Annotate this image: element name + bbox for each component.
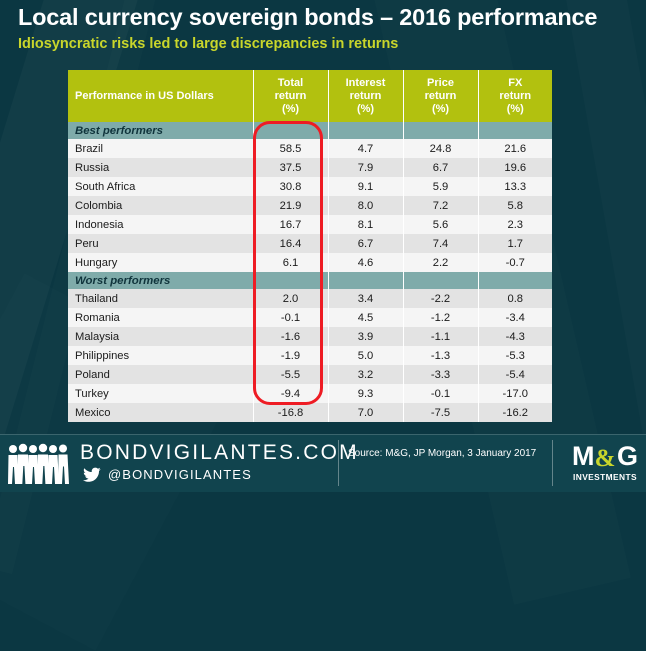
cell-country: Malaysia bbox=[68, 327, 253, 346]
cell-price-return: 2.2 bbox=[403, 253, 478, 272]
section-band-cell bbox=[328, 272, 403, 289]
mg-logo-letters: M & G bbox=[572, 443, 638, 470]
cell-interest-return: 9.1 bbox=[328, 177, 403, 196]
cell-fx-return: -5.3 bbox=[478, 346, 552, 365]
cell-price-return: -3.3 bbox=[403, 365, 478, 384]
table-row: Hungary6.14.62.2-0.7 bbox=[68, 253, 552, 272]
section-band-cell bbox=[253, 272, 328, 289]
cell-country: Indonesia bbox=[68, 215, 253, 234]
header-line-2: return bbox=[404, 90, 478, 103]
section-band-cell bbox=[328, 122, 403, 139]
cell-price-return: -0.1 bbox=[403, 384, 478, 403]
section-band-row: Worst performers bbox=[68, 272, 552, 289]
mg-logo-ampersand: & bbox=[595, 446, 616, 471]
cell-fx-return: 5.8 bbox=[478, 196, 552, 215]
cell-country: Poland bbox=[68, 365, 253, 384]
section-band-cell bbox=[478, 272, 552, 289]
performance-table-wrapper: Performance in US Dollars Total return (… bbox=[68, 70, 552, 422]
mg-investments-logo: M & G INVESTMENTS bbox=[572, 443, 638, 487]
cell-fx-return: 1.7 bbox=[478, 234, 552, 253]
table-row: Thailand2.03.4-2.20.8 bbox=[68, 289, 552, 308]
section-band-cell bbox=[403, 122, 478, 139]
table-row: Philippines-1.95.0-1.3-5.3 bbox=[68, 346, 552, 365]
mg-logo-m: M bbox=[572, 443, 595, 470]
cell-total-return: 58.5 bbox=[253, 139, 328, 158]
slide-title: Local currency sovereign bonds – 2016 pe… bbox=[18, 4, 597, 31]
cell-fx-return: -4.3 bbox=[478, 327, 552, 346]
cell-total-return: 37.5 bbox=[253, 158, 328, 177]
cell-interest-return: 3.2 bbox=[328, 365, 403, 384]
cell-price-return: -1.2 bbox=[403, 308, 478, 327]
table-row: Indonesia16.78.15.62.3 bbox=[68, 215, 552, 234]
cell-country: Philippines bbox=[68, 346, 253, 365]
cell-price-return: 6.7 bbox=[403, 158, 478, 177]
bondvigilantes-site-label[interactable]: BONDVIGILANTES.COM bbox=[80, 441, 359, 465]
cell-price-return: -1.3 bbox=[403, 346, 478, 365]
cell-interest-return: 3.4 bbox=[328, 289, 403, 308]
people-group-icon bbox=[7, 442, 73, 484]
section-band-cell bbox=[403, 272, 478, 289]
header-line-2: return bbox=[479, 90, 553, 103]
cell-interest-return: 4.7 bbox=[328, 139, 403, 158]
slide-canvas: Local currency sovereign bonds – 2016 pe… bbox=[0, 0, 646, 492]
table-row: Turkey-9.49.3-0.1-17.0 bbox=[68, 384, 552, 403]
cell-country: Hungary bbox=[68, 253, 253, 272]
cell-total-return: -0.1 bbox=[253, 308, 328, 327]
cell-total-return: -1.9 bbox=[253, 346, 328, 365]
cell-interest-return: 3.9 bbox=[328, 327, 403, 346]
cell-country: Colombia bbox=[68, 196, 253, 215]
column-header-performance: Performance in US Dollars bbox=[68, 70, 253, 122]
table-header-row: Performance in US Dollars Total return (… bbox=[68, 70, 552, 122]
source-note: Source: M&G, JP Morgan, 3 January 2017 bbox=[348, 448, 536, 459]
performance-table: Performance in US Dollars Total return (… bbox=[68, 70, 552, 422]
column-header-total-return: Total return (%) bbox=[253, 70, 328, 122]
cell-total-return: 30.8 bbox=[253, 177, 328, 196]
header-line-3: (%) bbox=[404, 103, 478, 116]
footer-divider-right bbox=[552, 440, 553, 486]
twitter-icon[interactable] bbox=[83, 467, 101, 482]
footer-bar: BONDVIGILANTES.COM @BONDVIGILANTES Sourc… bbox=[0, 434, 646, 492]
cell-interest-return: 4.5 bbox=[328, 308, 403, 327]
section-band-cell bbox=[253, 122, 328, 139]
table-row: Mexico-16.87.0-7.5-16.2 bbox=[68, 403, 552, 422]
cell-total-return: -9.4 bbox=[253, 384, 328, 403]
header-line-2: return bbox=[254, 90, 328, 103]
cell-country: Peru bbox=[68, 234, 253, 253]
mg-logo-g: G bbox=[617, 443, 638, 470]
table-row: Romania-0.14.5-1.2-3.4 bbox=[68, 308, 552, 327]
cell-fx-return: -5.4 bbox=[478, 365, 552, 384]
header-line-1: Total bbox=[254, 77, 328, 90]
cell-interest-return: 7.9 bbox=[328, 158, 403, 177]
cell-fx-return: 21.6 bbox=[478, 139, 552, 158]
cell-interest-return: 8.0 bbox=[328, 196, 403, 215]
cell-country: Russia bbox=[68, 158, 253, 177]
cell-fx-return: -0.7 bbox=[478, 253, 552, 272]
table-row: Poland-5.53.2-3.3-5.4 bbox=[68, 365, 552, 384]
cell-fx-return: -17.0 bbox=[478, 384, 552, 403]
header-line-3: (%) bbox=[479, 103, 553, 116]
cell-interest-return: 6.7 bbox=[328, 234, 403, 253]
table-row: Peru16.46.77.41.7 bbox=[68, 234, 552, 253]
table-row: Russia37.57.96.719.6 bbox=[68, 158, 552, 177]
header-line-1: Price bbox=[404, 77, 478, 90]
cell-total-return: 16.7 bbox=[253, 215, 328, 234]
mg-logo-tagline: INVESTMENTS bbox=[572, 472, 638, 482]
cell-fx-return: 0.8 bbox=[478, 289, 552, 308]
header-line-1: Interest bbox=[329, 77, 403, 90]
cell-price-return: 24.8 bbox=[403, 139, 478, 158]
column-header-interest-return: Interest return (%) bbox=[328, 70, 403, 122]
cell-fx-return: -3.4 bbox=[478, 308, 552, 327]
cell-total-return: 6.1 bbox=[253, 253, 328, 272]
slide-subtitle: Idiosyncratic risks led to large discrep… bbox=[18, 36, 398, 52]
cell-total-return: -1.6 bbox=[253, 327, 328, 346]
table-row: South Africa30.89.15.913.3 bbox=[68, 177, 552, 196]
cell-price-return: 5.9 bbox=[403, 177, 478, 196]
cell-interest-return: 4.6 bbox=[328, 253, 403, 272]
cell-price-return: -2.2 bbox=[403, 289, 478, 308]
cell-total-return: 2.0 bbox=[253, 289, 328, 308]
cell-fx-return: -16.2 bbox=[478, 403, 552, 422]
cell-country: Brazil bbox=[68, 139, 253, 158]
table-row: Malaysia-1.63.9-1.1-4.3 bbox=[68, 327, 552, 346]
cell-price-return: -1.1 bbox=[403, 327, 478, 346]
cell-fx-return: 19.6 bbox=[478, 158, 552, 177]
table-header: Performance in US Dollars Total return (… bbox=[68, 70, 552, 122]
cell-total-return: 21.9 bbox=[253, 196, 328, 215]
section-band-row: Best performers bbox=[68, 122, 552, 139]
header-line-3: (%) bbox=[254, 103, 328, 116]
cell-country: Romania bbox=[68, 308, 253, 327]
cell-fx-return: 13.3 bbox=[478, 177, 552, 196]
cell-country: Turkey bbox=[68, 384, 253, 403]
table-body: Best performersBrazil58.54.724.821.6Russ… bbox=[68, 122, 552, 422]
table-row: Brazil58.54.724.821.6 bbox=[68, 139, 552, 158]
header-line-1: FX bbox=[479, 77, 553, 90]
cell-country: South Africa bbox=[68, 177, 253, 196]
footer-divider-line bbox=[0, 434, 646, 435]
cell-total-return: -5.5 bbox=[253, 365, 328, 384]
header-line-3: (%) bbox=[329, 103, 403, 116]
section-band-cell bbox=[478, 122, 552, 139]
cell-interest-return: 9.3 bbox=[328, 384, 403, 403]
cell-interest-return: 7.0 bbox=[328, 403, 403, 422]
cell-price-return: -7.5 bbox=[403, 403, 478, 422]
table-row: Colombia21.98.07.25.8 bbox=[68, 196, 552, 215]
cell-fx-return: 2.3 bbox=[478, 215, 552, 234]
footer-divider-left bbox=[338, 440, 339, 486]
cell-price-return: 7.4 bbox=[403, 234, 478, 253]
background-streak bbox=[561, 0, 646, 600]
bondvigilantes-handle[interactable]: @BONDVIGILANTES bbox=[108, 467, 252, 482]
section-band-label: Worst performers bbox=[68, 272, 253, 289]
column-header-price-return: Price return (%) bbox=[403, 70, 478, 122]
cell-country: Mexico bbox=[68, 403, 253, 422]
cell-total-return: -16.8 bbox=[253, 403, 328, 422]
cell-price-return: 7.2 bbox=[403, 196, 478, 215]
cell-price-return: 5.6 bbox=[403, 215, 478, 234]
cell-interest-return: 5.0 bbox=[328, 346, 403, 365]
column-header-fx-return: FX return (%) bbox=[478, 70, 552, 122]
section-band-label: Best performers bbox=[68, 122, 253, 139]
cell-total-return: 16.4 bbox=[253, 234, 328, 253]
cell-interest-return: 8.1 bbox=[328, 215, 403, 234]
cell-country: Thailand bbox=[68, 289, 253, 308]
header-line-2: return bbox=[329, 90, 403, 103]
